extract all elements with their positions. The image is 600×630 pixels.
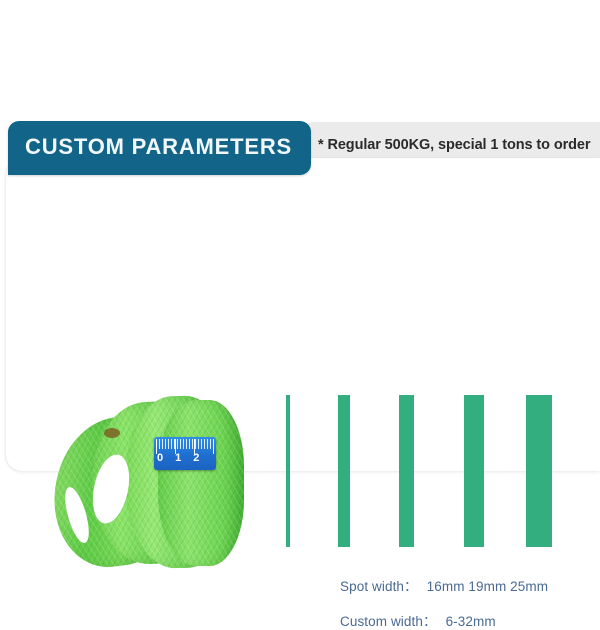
product-parameters-banner: * Regular 500KG, special 1 tons to order bbox=[0, 0, 600, 600]
coil-shadow-spot bbox=[104, 428, 120, 438]
page-title: CUSTOM PARAMETERS bbox=[25, 134, 292, 160]
content-card: 0 1 2 Spot width：16mm 19mm 25mm Custom w… bbox=[6, 158, 600, 471]
custom-width-label: Custom width： bbox=[340, 614, 437, 629]
product-photo bbox=[40, 390, 266, 570]
width-bar bbox=[464, 395, 484, 547]
strap-coil-edge bbox=[158, 400, 244, 566]
custom-width-values: 6-32mm bbox=[446, 614, 496, 629]
width-bar bbox=[526, 395, 552, 547]
spot-width-label: Spot width： bbox=[340, 579, 418, 594]
width-bar bbox=[338, 395, 350, 547]
ruler-numbers: 0 1 2 bbox=[157, 452, 215, 464]
strap-texture bbox=[158, 400, 244, 566]
ruler-mark-0: 0 bbox=[157, 452, 163, 464]
width-bar bbox=[286, 395, 290, 547]
width-bar bbox=[399, 395, 414, 547]
width-bars-group bbox=[276, 395, 576, 547]
ruler-mark-1: 1 bbox=[175, 452, 181, 464]
spot-width-line: Spot width：16mm 19mm 25mm bbox=[340, 575, 548, 595]
spot-width-values: 16mm 19mm 25mm bbox=[427, 579, 548, 594]
custom-width-line: Custom width：6-32mm bbox=[340, 610, 496, 630]
ruler-icon: 0 1 2 bbox=[154, 437, 216, 470]
note-text: * Regular 500KG, special 1 tons to order bbox=[318, 137, 590, 153]
section-title-tab: CUSTOM PARAMETERS bbox=[8, 121, 311, 175]
ruler-mark-2: 2 bbox=[193, 452, 199, 464]
